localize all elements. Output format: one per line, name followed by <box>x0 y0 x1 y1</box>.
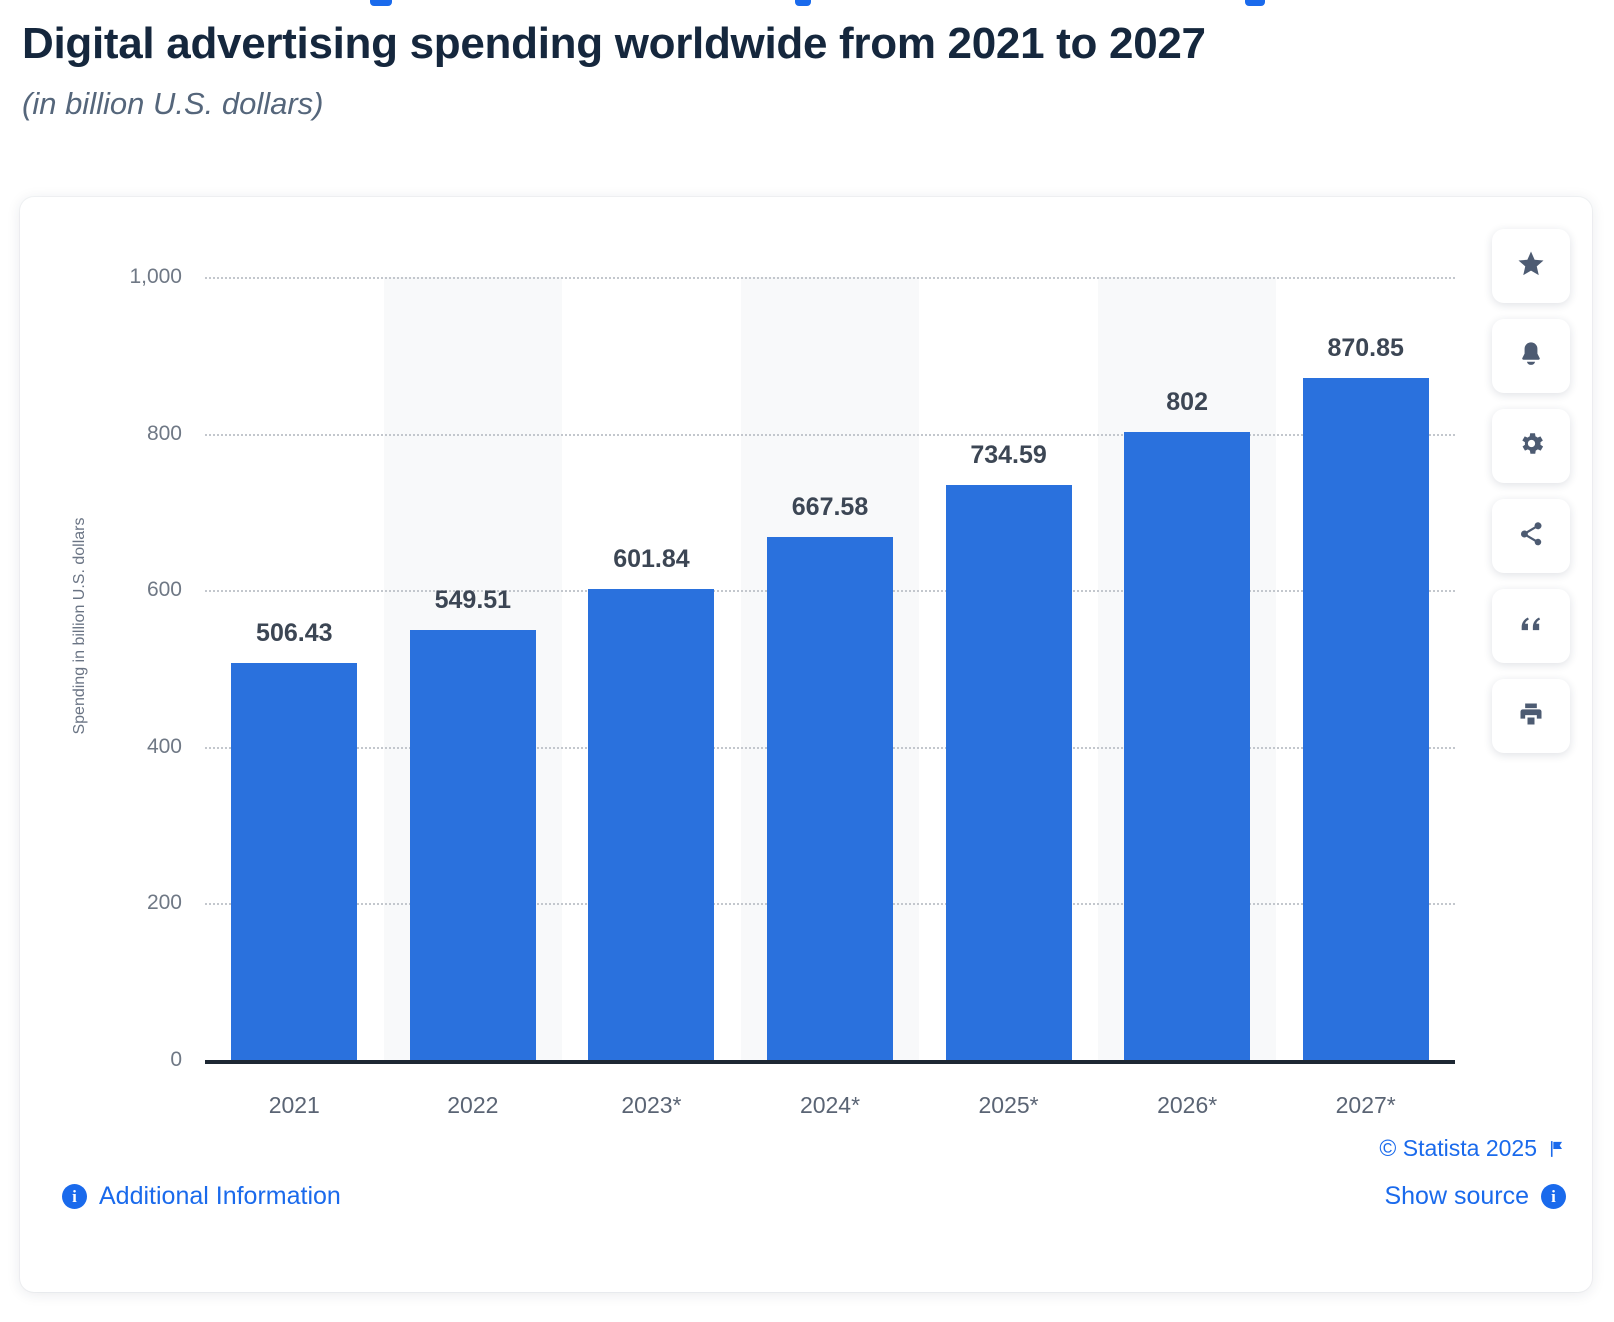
x-axis-tick-label: 2023* <box>551 1092 751 1119</box>
bar-series: 506.43549.51601.84667.58734.59802870.85 <box>205 277 1455 1060</box>
flag-icon[interactable] <box>1547 1138 1566 1160</box>
x-axis-tick-label: 2026* <box>1087 1092 1287 1119</box>
bar-value-label: 870.85 <box>1266 334 1466 363</box>
notifications-button[interactable] <box>1492 319 1570 393</box>
copyright: © Statista 2025 <box>1379 1135 1566 1162</box>
bar-value-label: 667.58 <box>730 493 930 522</box>
bar-value-label: 506.43 <box>194 619 394 648</box>
favorite-icon <box>1516 249 1546 284</box>
bar[interactable] <box>1124 432 1250 1060</box>
settings-button[interactable] <box>1492 409 1570 483</box>
chart-card: Spending in billion U.S. dollars 0200400… <box>20 197 1592 1292</box>
y-axis-tick-label: 600 <box>62 578 182 602</box>
bar-value-label: 734.59 <box>909 441 1109 470</box>
bar-value-label: 601.84 <box>551 545 751 574</box>
citation-button[interactable] <box>1492 589 1570 663</box>
statista-chart-page: Digital advertising spending worldwide f… <box>0 0 1614 1322</box>
print-button[interactable] <box>1492 679 1570 753</box>
print-icon <box>1517 700 1545 733</box>
y-axis-tick-label: 800 <box>62 422 182 446</box>
chart-action-toolbar[interactable] <box>1492 229 1570 753</box>
y-axis-tick-label: 1,000 <box>62 265 182 289</box>
x-axis-tick-label: 2027* <box>1266 1092 1466 1119</box>
copyright-label: © Statista 2025 <box>1379 1135 1537 1162</box>
gear-icon <box>1517 429 1546 463</box>
x-axis-tick-label: 2022 <box>373 1092 573 1119</box>
page-subtitle: (in billion U.S. dollars) <box>22 85 1588 122</box>
plot-area: Spending in billion U.S. dollars 0200400… <box>20 197 1592 1097</box>
page-title: Digital advertising spending worldwide f… <box>22 18 1588 69</box>
bar[interactable] <box>946 485 1072 1060</box>
x-axis-tick-label: 2021 <box>194 1092 394 1119</box>
share-icon <box>1517 520 1545 553</box>
show-source-label: Show source <box>1384 1182 1529 1211</box>
bar[interactable] <box>1303 378 1429 1060</box>
y-axis-tick-label: 0 <box>62 1048 182 1072</box>
bar[interactable] <box>588 589 714 1060</box>
show-source-link[interactable]: Show source i <box>1384 1182 1566 1211</box>
x-axis-tick-label: 2024* <box>730 1092 930 1119</box>
bar-value-label: 549.51 <box>373 586 573 615</box>
favorite-button[interactable] <box>1492 229 1570 303</box>
quote-icon <box>1517 610 1545 643</box>
additional-information-label: Additional Information <box>99 1182 341 1211</box>
y-axis-title: Spending in billion U.S. dollars <box>71 506 89 746</box>
info-icon: i <box>62 1184 87 1209</box>
chart-header: Digital advertising spending worldwide f… <box>0 0 1614 122</box>
share-button[interactable] <box>1492 499 1570 573</box>
x-axis-line <box>205 1060 1455 1064</box>
info-icon: i <box>1541 1184 1566 1209</box>
card-footer: i Additional Information Show source i <box>20 1182 1592 1211</box>
bar[interactable] <box>410 630 536 1060</box>
bell-icon <box>1517 340 1545 373</box>
bar[interactable] <box>767 537 893 1060</box>
y-axis-tick-label: 200 <box>62 891 182 915</box>
additional-information-link[interactable]: i Additional Information <box>62 1182 341 1211</box>
bar-value-label: 802 <box>1087 388 1287 417</box>
bar[interactable] <box>231 663 357 1060</box>
x-axis-tick-label: 2025* <box>909 1092 1109 1119</box>
y-axis-tick-label: 400 <box>62 735 182 759</box>
